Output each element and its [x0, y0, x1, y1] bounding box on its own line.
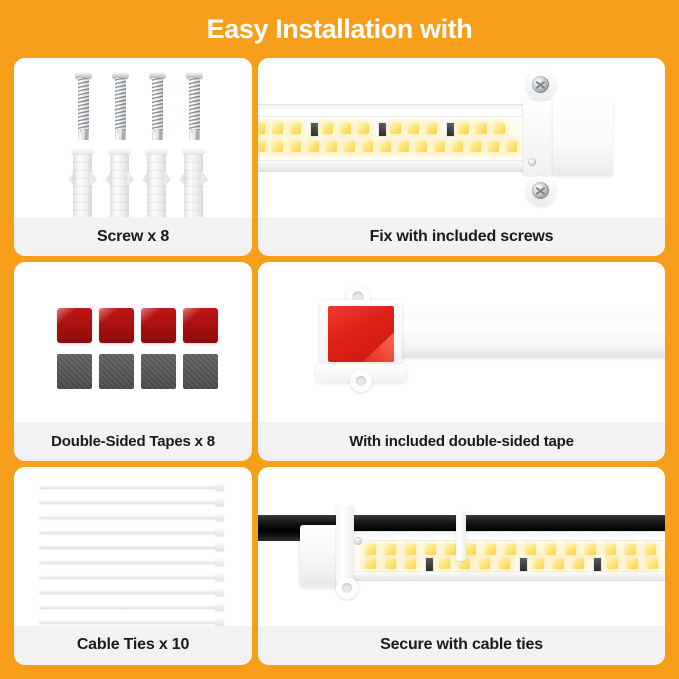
led-strip [258, 119, 532, 158]
clip-small-screw [354, 537, 362, 545]
cable-tie-icon [39, 515, 219, 519]
cable-tie-icon [39, 485, 219, 489]
clip-ring [336, 577, 358, 599]
card-caption-with-tape: With included double-sided tape [258, 422, 665, 461]
card-caption-cable-ties: Cable Ties x 10 [14, 626, 252, 665]
mounting-screw-top [532, 76, 549, 93]
cable-tie-wrap-left [336, 505, 354, 585]
wall-anchor-icon [110, 148, 129, 217]
led-chip [465, 544, 476, 555]
card-double-sided-tapes-parts: Double-Sided Tapes x 8 [14, 262, 252, 460]
bar-seam-top [353, 540, 665, 541]
mounting-screw-bottom [532, 182, 549, 199]
cable-tie-head [215, 618, 224, 626]
cable-tie-icon [39, 590, 219, 594]
screw-shaft [152, 78, 163, 130]
led-chip [470, 141, 481, 152]
card-caption-fix-with-screws: Fix with included screws [258, 217, 665, 256]
led-chip [390, 123, 401, 134]
led-driver-ic [593, 557, 602, 572]
led-chip [607, 558, 618, 569]
anchor-body [147, 154, 166, 217]
led-chip [385, 544, 396, 555]
led-driver-ic [310, 122, 319, 137]
card-caption-secure: Secure with cable ties [258, 626, 665, 665]
led-chip [272, 141, 283, 152]
led-chip [505, 544, 516, 555]
card-caption-tapes: Double-Sided Tapes x 8 [14, 422, 252, 461]
led-chip [545, 544, 556, 555]
led-chip [605, 544, 616, 555]
mounting-bracket [523, 100, 555, 176]
led-chip [452, 141, 463, 152]
led-chip [272, 123, 283, 134]
screw-shaft [189, 78, 200, 130]
led-chip [290, 141, 301, 152]
led-chip [258, 123, 265, 134]
gray-tape-square [141, 354, 176, 389]
bar-end-cap [553, 98, 613, 176]
cards-grid: Screw x 8 [14, 58, 665, 665]
led-chip [358, 123, 369, 134]
bar-seam-bottom [353, 571, 665, 572]
led-chip [573, 558, 584, 569]
led-row-bottom [258, 141, 532, 152]
led-chip [365, 544, 376, 555]
led-chip [458, 123, 469, 134]
card-with-double-sided-tape: With included double-sided tape [258, 262, 665, 460]
anchor-wing-left [105, 170, 112, 186]
cable-tie-head [215, 558, 224, 566]
cable-tie-icon [39, 575, 219, 579]
led-chip [476, 123, 487, 134]
screw-tip [78, 129, 89, 140]
screw-tip [189, 129, 200, 140]
anchor-body [184, 154, 203, 217]
anchor-body [110, 154, 129, 217]
red-tape-square [141, 308, 176, 343]
led-chip [408, 123, 419, 134]
led-chip [439, 558, 450, 569]
led-strip [353, 542, 665, 570]
led-chip [326, 141, 337, 152]
bracket-ring-bottom [350, 370, 372, 392]
anchor-wing-right [127, 170, 134, 186]
led-chip [434, 141, 445, 152]
led-chip [290, 123, 301, 134]
page-title: Easy Installation with [207, 14, 473, 45]
screws-parts-illustration [14, 58, 252, 217]
led-chip [322, 123, 333, 134]
led-chip [647, 558, 658, 569]
anchor-wing-right [201, 170, 208, 186]
led-chip [625, 544, 636, 555]
bracket-small-screw [528, 158, 536, 166]
led-chip [365, 558, 376, 569]
cable-tie-head [215, 498, 224, 506]
anchor-wing-right [90, 170, 97, 186]
bar-seam-top [258, 116, 532, 117]
anchor-body [73, 154, 92, 217]
gray-tape-square [57, 354, 92, 389]
anchor-wing-right [164, 170, 171, 186]
red-tape-square [57, 308, 92, 343]
red-tape-square [183, 308, 218, 343]
red-tape-square [99, 308, 134, 343]
card-fix-with-screws: Fix with included screws [258, 58, 665, 256]
led-chip [340, 123, 351, 134]
card-screws-parts: Screw x 8 [14, 58, 252, 256]
led-driver-ic [519, 557, 528, 572]
screw-tip [115, 129, 126, 140]
screw-icon [189, 72, 200, 140]
white-light-bar [388, 312, 665, 358]
cable-tie-head [215, 483, 224, 491]
led-chip [565, 544, 576, 555]
cable-tie-head [215, 513, 224, 521]
screw-icon [115, 72, 126, 140]
anchor-wing-left [68, 170, 75, 186]
led-chip [585, 544, 596, 555]
tape-mount-illustration [258, 262, 665, 421]
cable-tie-icon [39, 545, 219, 549]
led-driver-ic [446, 122, 455, 137]
cable-tie-icon [39, 530, 219, 534]
led-chip [362, 141, 373, 152]
led-chip [506, 141, 517, 152]
cable-tie-icon [39, 620, 219, 624]
installation-infographic: Easy Installation with [0, 0, 679, 679]
led-chip [479, 558, 490, 569]
cable-tie-icon [39, 500, 219, 504]
screw-shaft [115, 78, 126, 130]
cable-tie-head [215, 543, 224, 551]
secure-with-cable-ties-illustration [258, 467, 665, 626]
screw-tip [152, 129, 163, 140]
led-chip [499, 558, 510, 569]
cable-ties-parts-illustration [14, 467, 252, 626]
led-chip [258, 141, 265, 152]
screw-icon [78, 72, 89, 140]
cable-tie-wrap-right [456, 511, 466, 561]
led-chip [344, 141, 355, 152]
tapes-parts-illustration [14, 262, 252, 421]
card-cable-ties-parts: Cable Ties x 10 [14, 467, 252, 665]
led-chip [525, 544, 536, 555]
led-light-bar [258, 104, 532, 172]
led-row-bottom [353, 558, 665, 569]
wall-anchor-icon [184, 148, 203, 217]
led-driver-ic [378, 122, 387, 137]
led-chip [308, 141, 319, 152]
led-chip [533, 558, 544, 569]
cable-tie-head [215, 588, 224, 596]
led-chip [380, 141, 391, 152]
anchor-wing-left [142, 170, 149, 186]
led-chip [425, 544, 436, 555]
led-chip [488, 141, 499, 152]
led-chip [416, 141, 427, 152]
header: Easy Installation with [0, 0, 679, 58]
gray-tape-square [183, 354, 218, 389]
screw-shaft [78, 78, 89, 130]
cable-tie-icon [39, 560, 219, 564]
led-light-bar [353, 531, 665, 581]
screw-icon [152, 72, 163, 140]
led-driver-ic [425, 557, 434, 572]
cable-tie-head [215, 528, 224, 536]
fix-with-screws-illustration [258, 58, 665, 217]
led-chip [385, 558, 396, 569]
led-chip [627, 558, 638, 569]
led-chip [485, 544, 496, 555]
card-secure-with-cable-ties: Secure with cable ties [258, 467, 665, 665]
led-chip [398, 141, 409, 152]
cable-tie-head [215, 603, 224, 611]
wall-anchor-icon [73, 148, 92, 217]
led-chip [405, 544, 416, 555]
card-caption-screws: Screw x 8 [14, 217, 252, 256]
gray-tape-square [99, 354, 134, 389]
bar-seam-bottom [258, 160, 532, 161]
led-chip [405, 558, 416, 569]
anchor-wing-left [179, 170, 186, 186]
led-chip [494, 123, 505, 134]
led-chip [426, 123, 437, 134]
cable-tie-icon [39, 605, 219, 609]
cable-tie-head [215, 573, 224, 581]
led-chip [553, 558, 564, 569]
led-chip [445, 544, 456, 555]
wall-anchor-icon [147, 148, 166, 217]
led-chip [645, 544, 656, 555]
led-row-top [258, 123, 532, 134]
led-row-top [353, 544, 665, 555]
